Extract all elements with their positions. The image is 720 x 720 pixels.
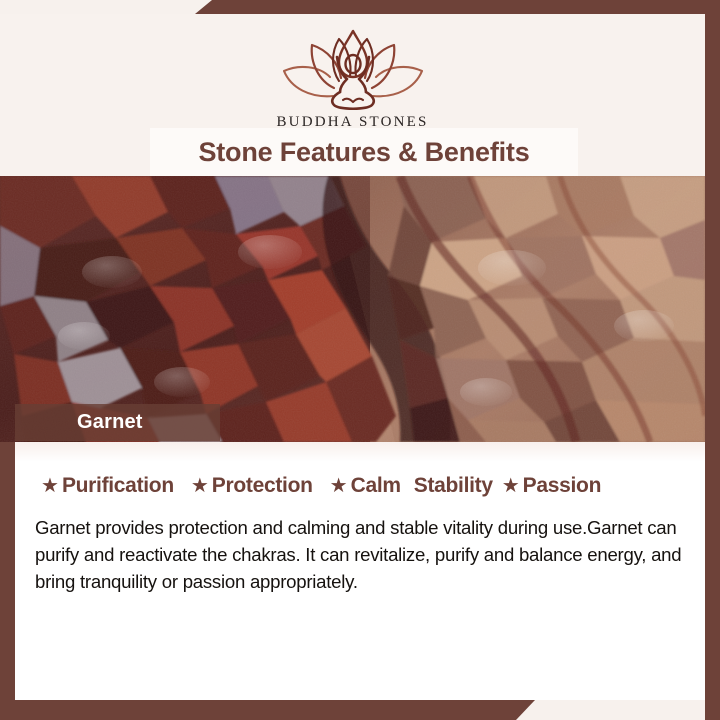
feature-item-calm: ★ Calm (330, 474, 401, 498)
brand-logo: BUDDHA STONES (0, 26, 705, 131)
feature-item-passion: ★ Passion (502, 474, 601, 498)
lotus-meditation-icon (277, 26, 429, 112)
page-title: Stone Features & Benefits (198, 137, 529, 168)
frame-band-bottom (0, 700, 535, 720)
feature-label: Stability (414, 474, 493, 498)
star-icon: ★ (41, 476, 59, 496)
title-banner: Stone Features & Benefits (150, 128, 578, 176)
star-icon: ★ (191, 476, 209, 496)
garnet-photo (0, 176, 705, 442)
feature-label: Protection (212, 474, 313, 498)
star-icon: ★ (330, 476, 348, 496)
feature-item-stability: Stability (414, 474, 493, 498)
frame-band-right (705, 0, 720, 720)
stone-features-poster: BUDDHA STONES Stone Features & Benefits (0, 0, 720, 720)
feature-item-purification: ★ Purification (41, 474, 174, 498)
feature-label: Calm (351, 474, 401, 498)
garnet-crystal-cluster-photo (0, 176, 705, 442)
stone-feature-list: ★ Purification ★ Protection ★ Calm Stabi… (41, 474, 695, 498)
star-icon: ★ (502, 476, 520, 496)
feature-label: Purification (62, 474, 174, 498)
frame-band-top (195, 0, 720, 14)
stone-info-card: ★ Purification ★ Protection ★ Calm Stabi… (15, 442, 705, 700)
stone-description: Garnet provides protection and calming a… (35, 514, 685, 595)
stone-name-tag: Garnet (15, 404, 220, 441)
feature-label: Passion (523, 474, 601, 498)
stone-name: Garnet (77, 411, 143, 434)
feature-item-protection: ★ Protection (191, 474, 313, 498)
